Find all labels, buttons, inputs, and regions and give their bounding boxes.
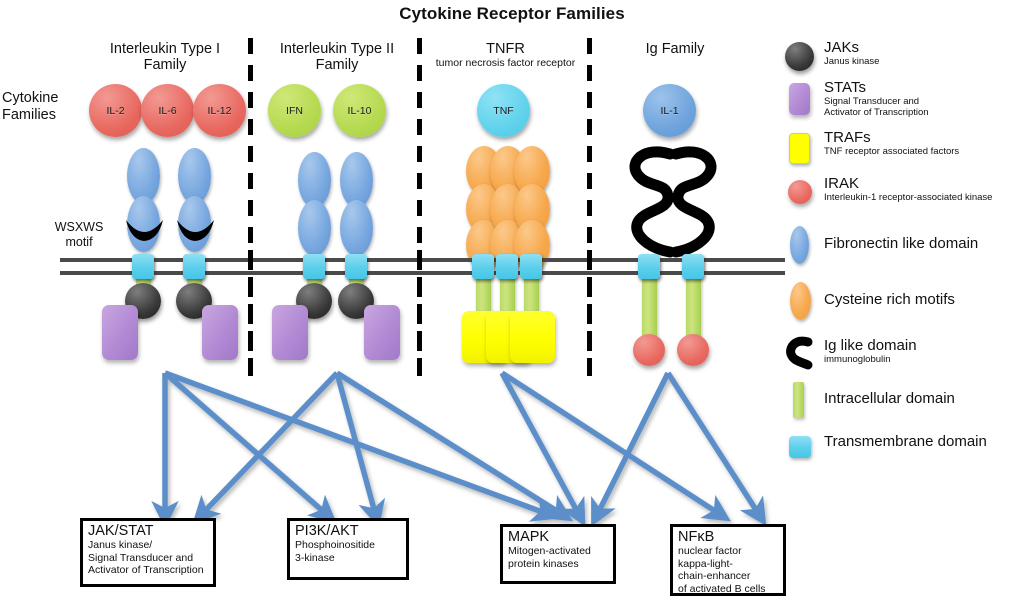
pathway-desc: nuclear factor kappa-light- chain-enhanc… bbox=[678, 545, 779, 595]
transmembrane-square-icon bbox=[789, 436, 811, 458]
intracellular-bar-icon bbox=[793, 382, 804, 418]
pathway-title: MAPK bbox=[508, 529, 609, 545]
legend-title: TRAFs bbox=[824, 129, 959, 146]
cysteine-ellipse-icon bbox=[790, 282, 811, 320]
arrow-tnfr-to-mapk bbox=[502, 373, 578, 513]
arrow-il1-to-pi3k bbox=[165, 373, 325, 513]
pathway-title: NFκB bbox=[678, 529, 779, 545]
trafs-rounded-rect-icon bbox=[789, 133, 810, 164]
legend-sub: TNF receptor associated factors bbox=[824, 146, 959, 157]
legend-title: STATs bbox=[824, 79, 929, 96]
fibronectin-ellipse-icon bbox=[790, 226, 809, 264]
legend-title: Fibronectin like domain bbox=[824, 235, 978, 252]
legend-item-fibronectin: Fibronectin like domain bbox=[780, 226, 1024, 268]
legend-item-jaks: JAKs Janus kinase bbox=[780, 40, 1024, 78]
legend-sub: Interleukin-1 receptor-associated kinase bbox=[824, 192, 992, 203]
legend-title: JAKs bbox=[824, 39, 879, 56]
legend-item-ig-like-domain: Ig like domain immunoglobulin bbox=[780, 338, 1024, 376]
legend-item-cysteine: Cysteine rich motifs bbox=[780, 282, 1024, 324]
pathway-desc: Phosphoinositide 3-kinase bbox=[295, 539, 402, 564]
legend-sub: Signal Transducer and Activator of Trans… bbox=[824, 96, 929, 118]
stats-rounded-rect-icon bbox=[789, 83, 810, 115]
pathway-title: PI3K/AKT bbox=[295, 523, 402, 539]
legend-title: Ig like domain bbox=[824, 337, 917, 354]
legend-item-irak: IRAK Interleukin-1 receptor-associated k… bbox=[780, 178, 1024, 218]
pathway-desc: Mitogen-activated protein kinases bbox=[508, 545, 609, 570]
legend-item-intracellular: Intracellular domain bbox=[780, 382, 1024, 422]
legend-item-trafs: TRAFs TNF receptor associated factors bbox=[780, 132, 1024, 172]
pathway-title: JAK/STAT bbox=[88, 523, 209, 539]
pathway-box-mapk[interactable]: MAPK Mitogen-activated protein kinases bbox=[500, 524, 616, 584]
pathway-box-jak-stat[interactable]: JAK/STAT Janus kinase/ Signal Transducer… bbox=[80, 518, 216, 587]
legend-title: Intracellular domain bbox=[824, 390, 955, 407]
pathway-box-pi3k-akt[interactable]: PI3K/AKT Phosphoinositide 3-kinase bbox=[287, 518, 409, 580]
legend-sub: immunoglobulin bbox=[824, 354, 917, 365]
legend-title: IRAK bbox=[824, 175, 992, 192]
ig-like-domain-hook-icon bbox=[788, 338, 814, 368]
legend-title: Cysteine rich motifs bbox=[824, 291, 955, 308]
irak-circle-icon bbox=[788, 180, 812, 204]
legend-item-transmembrane: Transmembrane domain bbox=[780, 434, 1024, 474]
legend-item-stats: STATs Signal Transducer and Activator of… bbox=[780, 82, 1024, 130]
legend-title: Transmembrane domain bbox=[824, 433, 987, 450]
pathway-box-nfkb[interactable]: NFκB nuclear factor kappa-light- chain-e… bbox=[670, 524, 786, 596]
legend-sub: Janus kinase bbox=[824, 56, 879, 67]
jaks-circle-icon bbox=[785, 42, 814, 71]
pathway-desc: Janus kinase/ Signal Transducer and Acti… bbox=[88, 539, 209, 577]
